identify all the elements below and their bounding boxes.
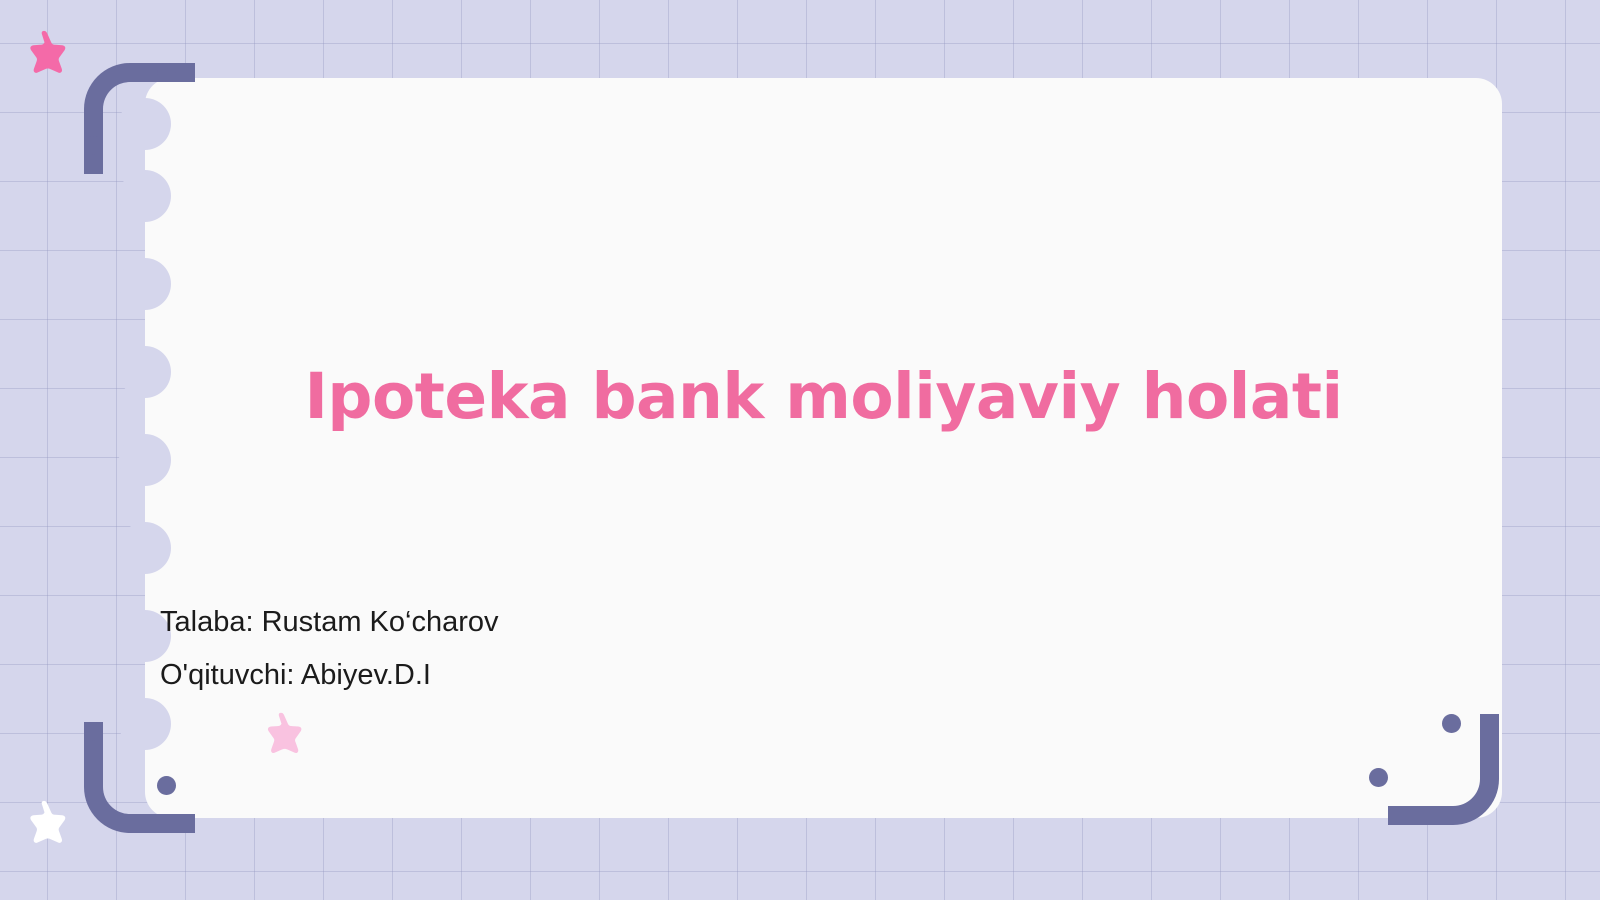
bracket-cap	[1442, 714, 1461, 733]
slide-title: Ipoteka bank moliyaviy holati	[145, 362, 1502, 431]
scallop-notch	[119, 434, 171, 486]
bracket-cap	[84, 136, 103, 155]
bracket-cap	[157, 63, 176, 82]
bracket-cap	[157, 776, 176, 795]
byline-block: Talaba: Rustam Ko‘charov O'qituvchi: Abi…	[160, 608, 1060, 714]
corner-bracket-bottom-right	[1388, 714, 1499, 825]
scallop-notch	[119, 522, 171, 574]
presentation-slide: Ipoteka bank moliyaviy holati Talaba: Ru…	[0, 0, 1600, 900]
corner-bracket-bottom-left	[84, 722, 195, 833]
bracket-cap	[84, 722, 103, 741]
scallop-notch	[119, 170, 171, 222]
bracket-cap	[1369, 768, 1388, 787]
star-card-bottom-icon	[258, 710, 304, 761]
star-top-left-icon	[20, 28, 68, 81]
student-line: Talaba: Rustam Ko‘charov	[160, 608, 1060, 637]
teacher-line: O'qituvchi: Abiyev.D.I	[160, 661, 1060, 690]
corner-bracket-top-left	[84, 63, 195, 174]
star-bottom-left-icon	[20, 798, 68, 851]
scallop-notch	[119, 258, 171, 310]
